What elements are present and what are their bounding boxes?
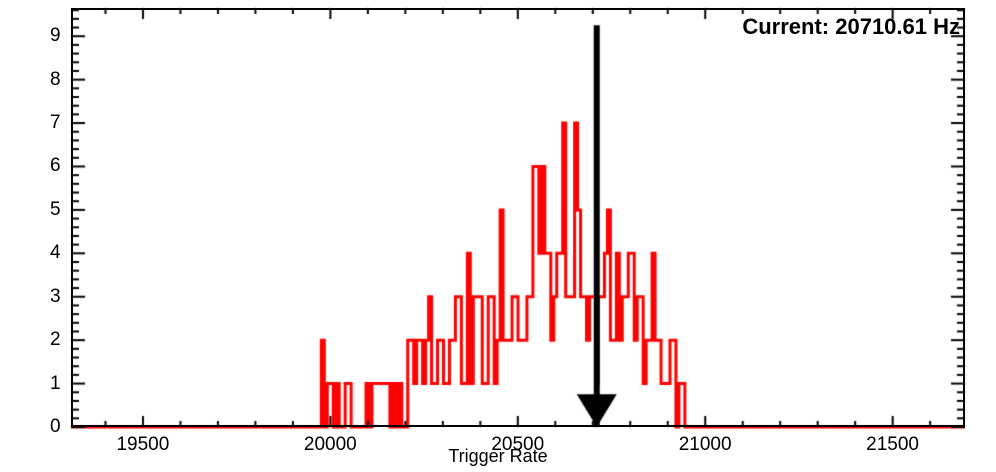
x-tick-label-20000: 20000 xyxy=(304,434,357,456)
y-tick-label-5: 5 xyxy=(50,199,61,221)
y-tick-label-7: 7 xyxy=(50,112,61,134)
y-tick-label-2: 2 xyxy=(50,329,61,351)
y-tick-label-6: 6 xyxy=(50,155,61,177)
plot-frame xyxy=(71,8,965,427)
y-tick-label-4: 4 xyxy=(50,242,61,264)
x-tick-label-20500: 20500 xyxy=(491,434,544,456)
x-tick-label-21000: 21000 xyxy=(679,434,732,456)
y-tick-label-3: 3 xyxy=(50,286,61,308)
y-tick-label-9: 9 xyxy=(50,25,61,47)
y-tick-label-0: 0 xyxy=(50,416,61,438)
current-rate-readout: Current: 20710.61 Hz xyxy=(742,14,960,40)
y-tick-label-1: 1 xyxy=(50,373,61,395)
x-tick-label-21500: 21500 xyxy=(866,434,919,456)
root-canvas: Current: 20710.61 Hz Trigger Rate 195002… xyxy=(0,0,996,472)
y-tick-label-8: 8 xyxy=(50,69,61,91)
x-tick-label-19500: 19500 xyxy=(116,434,169,456)
